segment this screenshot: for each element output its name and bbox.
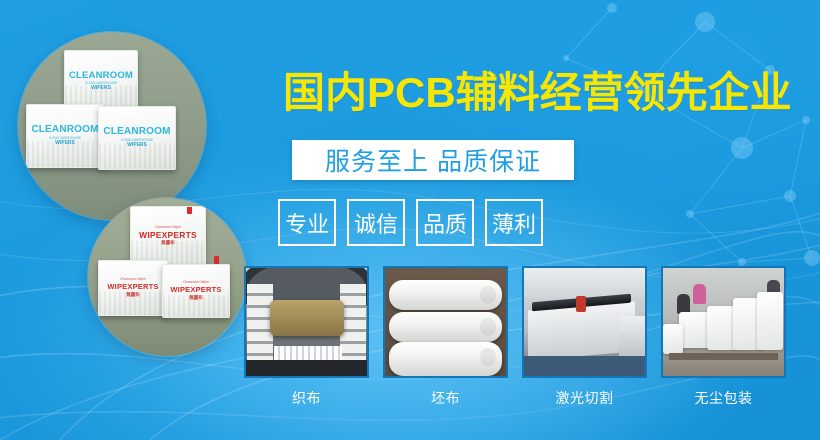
package-type: WIPERS	[127, 143, 147, 149]
fabric-roll	[389, 342, 502, 376]
knitting-machine-photo[interactable]	[244, 266, 369, 378]
package-brand: CLEANROOM	[103, 127, 170, 137]
wipexperts-package: Cleanroom Wiper WIPEXPERTS 無塵布	[162, 264, 230, 318]
banner-headline: 国内PCB辅料经营领先企业	[283, 72, 792, 114]
packed-bag	[757, 292, 783, 350]
wipexperts-package: Cleanroom Wiper WIPEXPERTS 無塵布	[98, 260, 168, 316]
process-thumbnail-cleanroom-packing[interactable]: 无尘包装	[661, 266, 786, 408]
wipexperts-package: Cleanroom Wiper WIPEXPERTS 無塵布	[130, 206, 206, 266]
package-brand: WIPEXPERTS	[139, 231, 197, 240]
thumbnail-label: 激光切割	[522, 388, 647, 408]
thumbnail-label: 坯布	[383, 388, 508, 408]
package-type: 無塵布	[126, 293, 140, 298]
worker-figure	[693, 284, 706, 304]
red-tab-marker	[187, 206, 192, 214]
machine-hub	[270, 300, 344, 336]
value-tag-list: 专业 诚信 品质 薄利	[278, 199, 543, 246]
machine-base	[246, 360, 367, 376]
worker-figure	[677, 294, 690, 314]
packing-table	[669, 353, 778, 360]
fabric-rolls-photo[interactable]	[383, 266, 508, 378]
package-brand: WIPEXPERTS	[107, 283, 158, 291]
product-photo-cleanroom: CLEANROOM CLEAN WAREHOUSE WIPERS CLEANRO…	[18, 32, 206, 220]
package-type: WIPERS	[91, 86, 111, 92]
package-brand: CLEANROOM	[69, 71, 133, 81]
process-thumbnail-weaving[interactable]: 织布	[244, 266, 369, 408]
process-thumbnail-laser-cutting[interactable]: 激光切割	[522, 266, 647, 408]
laser-cutting-machine-photo[interactable]	[522, 266, 647, 378]
packed-bag	[679, 312, 709, 348]
promo-banner: CLEANROOM CLEAN WAREHOUSE WIPERS CLEANRO…	[0, 0, 820, 440]
package-brand: CLEANROOM	[31, 125, 98, 135]
cleanroom-wipes-photo: CLEANROOM CLEAN WAREHOUSE WIPERS CLEANRO…	[18, 32, 206, 220]
value-tag-integrity[interactable]: 诚信	[347, 199, 405, 246]
product-photo-wipexperts: Cleanroom Wiper WIPEXPERTS 無塵布 Cleanroom…	[88, 198, 246, 356]
wipes-package: CLEANROOM CLEAN WAREHOUSE WIPERS	[98, 106, 176, 170]
value-tag-low-margin[interactable]: 薄利	[485, 199, 543, 246]
wipes-package: CLEANROOM CLEAN WAREHOUSE WIPERS	[26, 104, 104, 168]
package-brand: WIPEXPERTS	[170, 286, 221, 294]
value-tag-professional[interactable]: 专业	[278, 199, 336, 246]
process-thumbnail-greige-fabric[interactable]: 坯布	[383, 266, 508, 408]
fabric-roll	[389, 312, 502, 342]
fabric-roll	[389, 280, 502, 310]
package-type: 無塵布	[161, 241, 175, 246]
cleanroom-packing-photo[interactable]	[661, 266, 786, 378]
process-thumbnail-list: 织布 坯布 激光切割	[244, 266, 786, 408]
package-type: 無塵布	[189, 296, 203, 301]
red-tab-marker	[214, 256, 219, 264]
value-tag-quality[interactable]: 品质	[416, 199, 474, 246]
package-type: WIPERS	[55, 141, 75, 147]
slogan-bar: 服务至上 品质保证	[292, 140, 574, 180]
thumbnail-label: 无尘包装	[661, 388, 786, 408]
package-subtitle: CLEAN WAREHOUSE	[85, 82, 117, 86]
wipexperts-photo: Cleanroom Wiper WIPEXPERTS 無塵布 Cleanroom…	[88, 198, 246, 356]
machine-frame	[524, 356, 645, 376]
packed-bag	[663, 324, 683, 354]
slogan-text: 服务至上 品质保证	[325, 142, 541, 178]
laser-head	[576, 296, 586, 312]
wipes-package: CLEANROOM CLEAN WAREHOUSE WIPERS	[64, 50, 138, 112]
thumbnail-label: 织布	[244, 388, 369, 408]
